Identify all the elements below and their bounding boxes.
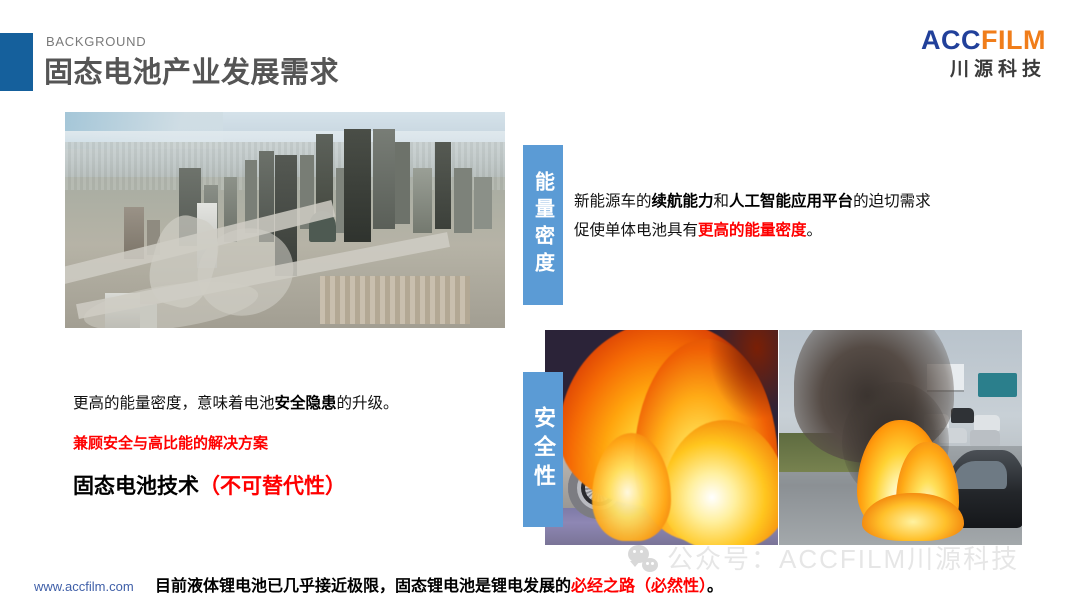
logo-acc-text: ACC (921, 25, 981, 55)
risk-text-1: 更高的能量密度，意味着电池 (73, 395, 275, 412)
solution-line: 兼顾安全与高比能的解决方案 (73, 432, 513, 453)
burning-car-photo-left (545, 330, 778, 545)
fire-right-flame (862, 493, 964, 540)
risk-text-2: 的升级。 (337, 395, 399, 412)
tech-text-highlight: （不可替代性） (199, 475, 346, 498)
energy-text-bold-2: 人工智能应用平台 (729, 193, 853, 210)
header-eyebrow: BACKGROUND (46, 34, 146, 49)
footer-text-1: 目前液体锂电池已几乎接近极限，固态锂电池是锂电发展的 (155, 578, 571, 595)
city-tower (435, 142, 452, 228)
header-accent-bar (0, 33, 33, 91)
fire-right-car (970, 430, 999, 446)
city-tower (454, 168, 472, 233)
city-skyline-photo (65, 112, 505, 328)
accfilm-logo: ACCFILM 川源科技 (921, 27, 1046, 79)
footer-text-highlight: 必经之路（必然性） (571, 578, 707, 595)
fire-left-smoke (708, 330, 778, 420)
city-tower (344, 129, 370, 241)
safety-text-block: 更高的能量密度，意味着电池安全隐患的升级。 兼顾安全与高比能的解决方案 固态电池… (73, 392, 513, 500)
city-tower (413, 168, 432, 233)
wechat-bubble-small (642, 558, 658, 572)
label-safety: 安全性 (523, 372, 563, 527)
energy-density-paragraph: 新能源车的续航能力和人工智能应用平台的迫切需求 促使单体电池具有更高的能量密度。 (574, 188, 1054, 245)
burning-car-photo-right (779, 330, 1022, 545)
city-tower (474, 177, 492, 229)
energy-text-1: 新能源车的 (574, 193, 652, 210)
energy-text-5: 。 (807, 222, 823, 239)
energy-text-highlight: 更高的能量密度 (698, 222, 807, 239)
city-tower (373, 129, 395, 228)
footer-text-2: 。 (707, 578, 723, 595)
energy-text-3: 的迫切需求 (853, 193, 931, 210)
logo-chinese-name: 川源科技 (921, 60, 1046, 79)
footer-website-url[interactable]: www.accfilm.com (34, 579, 134, 594)
energy-text-bold-1: 续航能力 (652, 193, 714, 210)
risk-text-bold: 安全隐患 (275, 395, 337, 412)
tech-text: 固态电池技术 (73, 475, 199, 498)
footer-conclusion-text: 目前液体锂电池已几乎接近极限，固态锂电池是锂电发展的必经之路（必然性）。 (155, 572, 723, 596)
wechat-bubble-large (628, 545, 649, 563)
label-energy-density: 能量密度 (523, 145, 563, 305)
fire-right-car (951, 408, 974, 422)
fire-right-car (974, 415, 999, 431)
logo-wordmark: ACCFILM (921, 27, 1046, 54)
energy-text-4: 促使单体电池具有 (574, 222, 698, 239)
fire-right-car-window (954, 461, 1007, 489)
energy-text-2: 和 (714, 193, 730, 210)
wechat-icon (628, 543, 658, 573)
technology-line: 固态电池技术（不可替代性） (73, 470, 513, 500)
city-tower (395, 142, 410, 224)
slide-canvas: BACKGROUND 固态电池产业发展需求 ACCFILM 川源科技 (0, 0, 1080, 608)
safety-risk-line: 更高的能量密度，意味着电池安全隐患的升级。 (73, 392, 513, 417)
city-lowrise (320, 276, 470, 324)
page-title: 固态电池产业发展需求 (44, 49, 339, 91)
logo-film-text: FILM (981, 25, 1046, 55)
